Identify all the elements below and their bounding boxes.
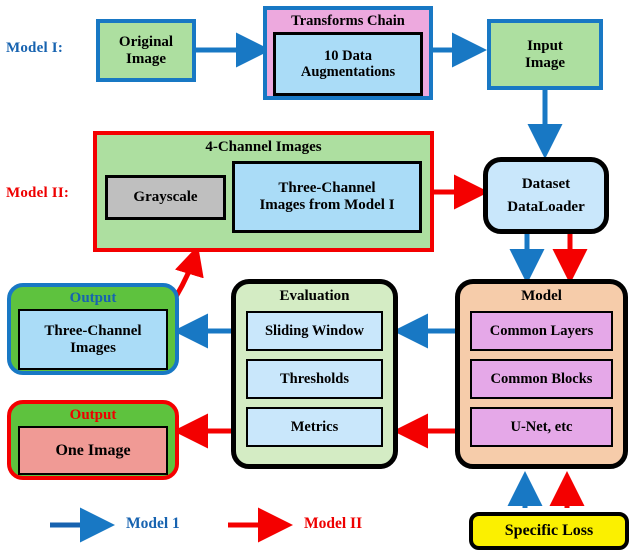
- node-three-channel-from-model-i-label: Three-Channel Images from Model I: [235, 164, 419, 230]
- group-evaluation-title: Evaluation: [246, 288, 383, 305]
- node-metrics-label: Metrics: [291, 419, 339, 436]
- group-output-three-channel-images-title: Output: [18, 290, 168, 307]
- node-transforms-chain-title: Transforms Chain: [273, 13, 423, 30]
- node-sliding-window[interactable]: Sliding Window: [246, 311, 383, 351]
- group-4-channel-images-title: 4-Channel Images: [105, 139, 422, 156]
- node-dataset-dataloader[interactable]: Dataset DataLoader: [483, 157, 609, 234]
- group-output-one-image-title: Output: [18, 407, 168, 424]
- node-original-image-label: Original Image: [100, 23, 192, 78]
- flowchart-canvas: Model I: Original Image Transforms Chain…: [0, 0, 640, 556]
- node-specific-loss-label: Specific Loss: [473, 516, 625, 546]
- node-unet-etc[interactable]: U-Net, etc: [470, 407, 613, 447]
- node-original-image[interactable]: Original Image: [96, 19, 196, 82]
- node-sliding-window-label: Sliding Window: [265, 323, 364, 340]
- node-output-three-channel-images-label: Three-Channel Images: [20, 311, 166, 368]
- node-transforms-chain[interactable]: Transforms Chain 10 Data Augmentations: [263, 6, 433, 100]
- node-common-layers[interactable]: Common Layers: [470, 311, 613, 351]
- node-thresholds-label: Thresholds: [280, 371, 349, 388]
- group-model[interactable]: Model Common Layers Common Blocks U-Net,…: [455, 279, 628, 469]
- legend-label-model-1: Model 1: [126, 515, 180, 533]
- role-label-model-ii: Model II:: [6, 185, 69, 202]
- node-specific-loss[interactable]: Specific Loss: [469, 512, 629, 550]
- node-unet-etc-label: U-Net, etc: [511, 419, 573, 436]
- group-output-one-image[interactable]: Output One Image: [7, 400, 179, 480]
- node-common-blocks-label: Common Blocks: [491, 371, 593, 388]
- node-grayscale-label: Grayscale: [108, 178, 223, 217]
- legend-label-model-ii: Model II: [304, 515, 362, 533]
- node-dataset-label: Dataset: [522, 176, 570, 193]
- node-output-one-image-label: One Image: [20, 428, 166, 473]
- node-10-data-augmentations-label: 10 Data Augmentations: [276, 35, 420, 93]
- node-10-data-augmentations[interactable]: 10 Data Augmentations: [273, 32, 423, 96]
- node-three-channel-from-model-i[interactable]: Three-Channel Images from Model I: [232, 161, 422, 233]
- role-label-model-i: Model I:: [6, 40, 63, 57]
- node-dataloader-label: DataLoader: [507, 199, 585, 216]
- group-model-title: Model: [470, 288, 613, 305]
- node-output-one-image[interactable]: One Image: [18, 426, 168, 475]
- group-output-three-channel-images[interactable]: Output Three-Channel Images: [7, 283, 179, 375]
- node-metrics[interactable]: Metrics: [246, 407, 383, 447]
- node-common-layers-label: Common Layers: [490, 323, 594, 340]
- node-input-image-label: Input Image: [491, 23, 599, 86]
- group-4-channel-images[interactable]: 4-Channel Images Grayscale Three-Channel…: [93, 131, 434, 252]
- node-thresholds[interactable]: Thresholds: [246, 359, 383, 399]
- node-common-blocks[interactable]: Common Blocks: [470, 359, 613, 399]
- node-input-image[interactable]: Input Image: [487, 19, 603, 90]
- node-output-three-channel-images[interactable]: Three-Channel Images: [18, 309, 168, 370]
- group-evaluation[interactable]: Evaluation Sliding Window Thresholds Met…: [231, 279, 398, 469]
- node-grayscale[interactable]: Grayscale: [105, 175, 226, 220]
